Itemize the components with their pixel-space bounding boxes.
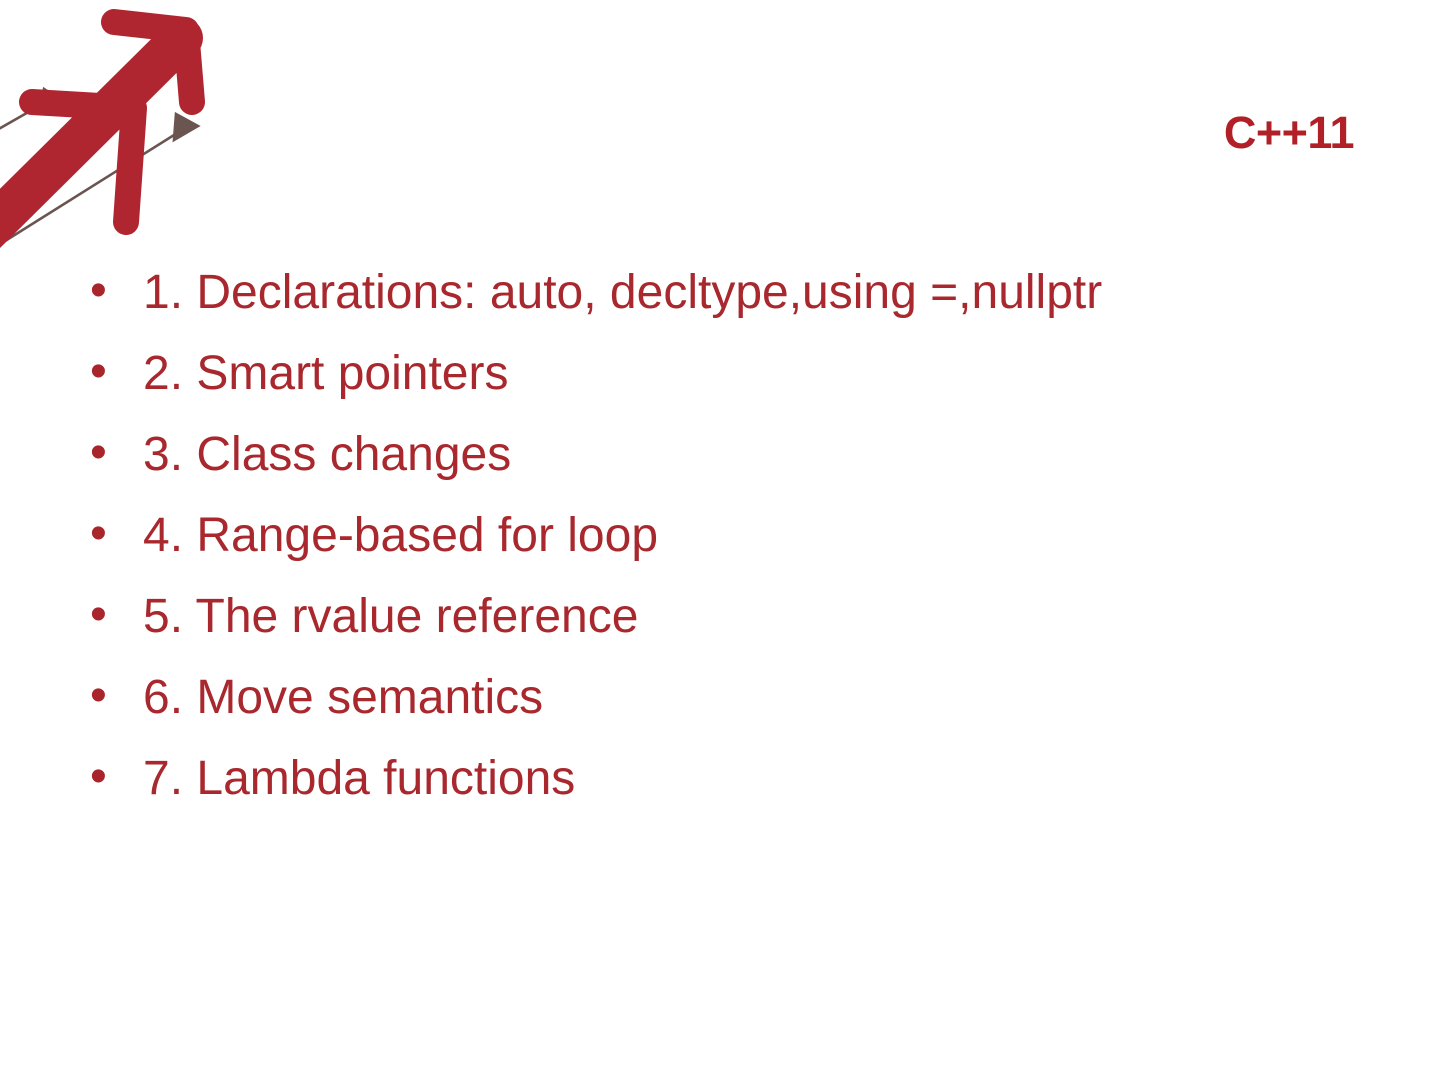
bullet-text: 5. The rvalue reference xyxy=(143,588,1382,646)
bullet-marker-icon: • xyxy=(82,424,143,482)
bullet-text: 2. Smart pointers xyxy=(143,345,1382,403)
bullet-list: • 1. Declarations: auto, decltype,using … xyxy=(82,264,1382,831)
thin-arrow-line-2 xyxy=(0,130,182,255)
bullet-text: 3. Class changes xyxy=(143,426,1382,484)
bullet-marker-icon: • xyxy=(82,748,143,806)
thin-arrow-head-1 xyxy=(40,89,62,111)
bullet-text: 7. Lambda functions xyxy=(143,750,1382,808)
list-item: • 7. Lambda functions xyxy=(82,750,1382,831)
list-item: • 2. Smart pointers xyxy=(82,345,1382,426)
bullet-marker-icon: • xyxy=(82,586,143,644)
bullet-marker-icon: • xyxy=(82,667,143,725)
list-item: • 5. The rvalue reference xyxy=(82,588,1382,669)
page-title: C++11 xyxy=(1224,109,1354,156)
bullet-marker-icon: • xyxy=(82,343,143,401)
thin-arrow-head-2 xyxy=(174,114,198,140)
bullet-text: 4. Range-based for loop xyxy=(143,507,1382,565)
growth-arrows-logo xyxy=(0,0,226,255)
main-arrow-shaft xyxy=(0,38,182,255)
list-item: • 6. Move semantics xyxy=(82,669,1382,750)
main-arrow-head xyxy=(114,22,192,102)
bullet-marker-icon: • xyxy=(82,505,143,563)
bullet-text: 1. Declarations: auto, decltype,using =,… xyxy=(143,264,1382,322)
growth-arrows-icon xyxy=(0,0,226,255)
list-item: • 1. Declarations: auto, decltype,using … xyxy=(82,264,1382,345)
list-item: • 4. Range-based for loop xyxy=(82,507,1382,588)
bullet-marker-icon: • xyxy=(82,262,143,320)
bullet-text: 6. Move semantics xyxy=(143,669,1382,727)
slide-canvas: C++11 • 1. Declarations: auto, decltype,… xyxy=(0,0,1440,1080)
secondary-arrow-branch xyxy=(32,102,134,222)
list-item: • 3. Class changes xyxy=(82,426,1382,507)
thin-arrow-line-1 xyxy=(0,102,46,142)
